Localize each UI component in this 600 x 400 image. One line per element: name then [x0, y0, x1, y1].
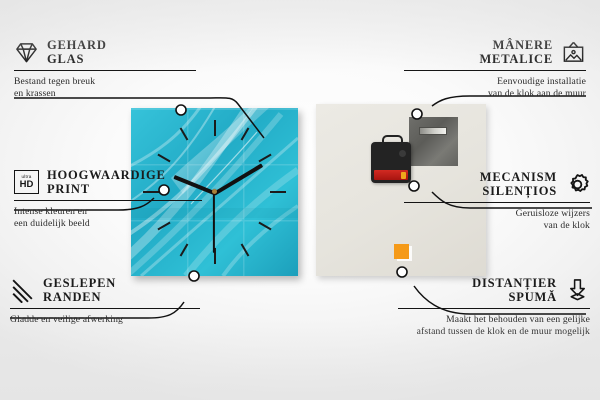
feature-geslepen-randen: GESLEPEN RANDEN Gladde en veilige afwerk…: [10, 276, 200, 326]
feature-title: GESLEPEN RANDEN: [43, 276, 116, 304]
infographic-canvas: GEHARD GLAS Bestand tegen breuk en krass…: [0, 0, 600, 400]
clock-second-hand: [213, 193, 215, 253]
picture-frame-icon: [561, 40, 586, 65]
divider: [404, 70, 586, 71]
feature-title: MÂNERE METALICE: [479, 38, 553, 66]
feature-description: Bestand tegen breuk en krassen: [14, 76, 196, 99]
feature-description: Eenvoudige installatie van de klok aan d…: [404, 76, 586, 99]
feature-description: Intense kleuren en een duidelijk beeld: [14, 206, 202, 229]
gear-icon: [565, 172, 590, 197]
foam-spacer: [394, 244, 409, 259]
feature-header: ultra HD HOOGWAARDIGE PRINT: [14, 168, 202, 196]
feature-hoogwaardige-print: ultra HD HOOGWAARDIGE PRINT Intense kleu…: [14, 168, 202, 229]
feature-description: Geruisloze wijzers van de klok: [404, 208, 590, 231]
feature-description: Gladde en veilige afwerking: [10, 314, 200, 326]
feature-header: MECANISM SILENȚIOS: [404, 170, 590, 198]
divider: [14, 70, 196, 71]
feature-description: Maakt het behouden van een gelijke afsta…: [398, 314, 590, 337]
clock-center-hub: [212, 189, 217, 194]
divider: [14, 200, 202, 201]
feature-header: GEHARD GLAS: [14, 38, 196, 66]
diamond-icon: [14, 40, 39, 65]
battery: [374, 170, 408, 180]
feature-header: GESLEPEN RANDEN: [10, 276, 200, 304]
feature-header: MÂNERE METALICE: [404, 38, 586, 66]
ultra-hd-icon: ultra HD: [14, 170, 39, 194]
down-arrow-plate-icon: [565, 278, 590, 303]
clock-tick: [214, 120, 216, 136]
clock-tick: [270, 191, 286, 193]
feature-title: GEHARD GLAS: [47, 38, 107, 66]
feature-gehard-glas: GEHARD GLAS Bestand tegen breuk en krass…: [14, 38, 196, 99]
feature-title: DISTANȚIER SPUMĂ: [472, 276, 557, 304]
hanger-slot: [419, 127, 447, 135]
feature-header: DISTANȚIER SPUMĂ: [398, 276, 590, 304]
setting-knob: [399, 150, 406, 157]
feature-manere-metalice: MÂNERE METALICE Eenvoudige installatie v…: [404, 38, 586, 99]
diagonal-lines-icon: [10, 278, 35, 303]
divider: [404, 202, 590, 203]
feature-mecanism-silentios: MECANISM SILENȚIOS Geruisloze wijzers va…: [404, 170, 590, 231]
hanger-loop: [382, 135, 403, 148]
divider: [398, 308, 590, 309]
feature-title: HOOGWAARDIGE PRINT: [47, 168, 166, 196]
feature-title: MECANISM SILENȚIOS: [480, 170, 557, 198]
metal-hanger-plate: [409, 117, 458, 166]
feature-distantier-spuma: DISTANȚIER SPUMĂ Maakt het behouden van …: [398, 276, 590, 337]
divider: [10, 308, 200, 309]
